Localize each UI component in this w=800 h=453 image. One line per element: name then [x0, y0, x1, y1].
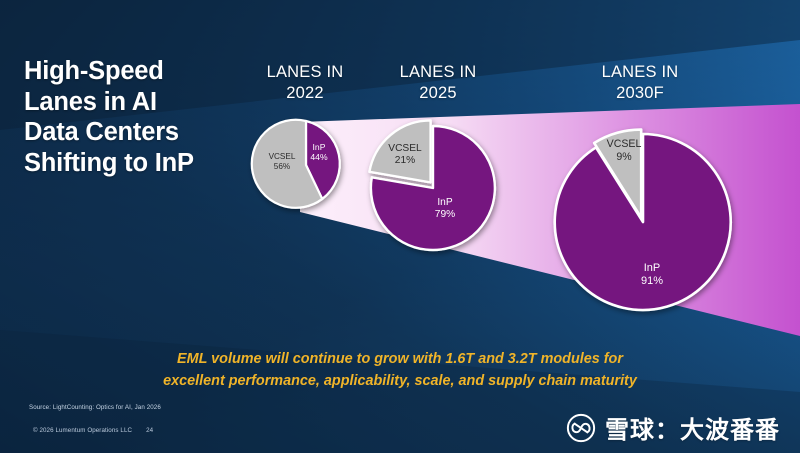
- page-title-line-3: Data Centers: [24, 117, 254, 148]
- takeaway-caption-line-2: excellent performance, applicability, sc…: [60, 371, 740, 393]
- slice-label-vcsel-2030f-name: VCSEL: [594, 138, 654, 151]
- page-title-line-4: Shifting to InP: [24, 148, 254, 179]
- watermark: 雪球：大波番番: [566, 410, 780, 445]
- pie-header-2022-line1: LANES IN: [235, 62, 375, 83]
- copyright-text: © 2026 Lumentum Operations LLC: [33, 427, 132, 434]
- slice-label-inp-2030f: InP 91%: [628, 262, 676, 288]
- watermark-text: 雪球：大波番番: [605, 410, 780, 445]
- slice-label-inp-2025-value: 79%: [423, 209, 467, 221]
- takeaway-caption-line-1: EML volume will continue to grow with 1.…: [60, 349, 740, 371]
- snowball-logo-icon: [566, 413, 596, 443]
- page-title-line-1: High-Speed: [24, 56, 254, 87]
- page-title-line-2: Lanes in AI: [24, 87, 254, 118]
- slice-label-inp-2022-name: InP: [300, 142, 338, 152]
- slice-label-vcsel-2025-name: VCSEL: [375, 143, 435, 155]
- pie-header-2030f-line2: 2030F: [570, 83, 710, 104]
- slice-label-inp-2025: InP 79%: [423, 197, 467, 221]
- pie-header-2025-line2: 2025: [368, 83, 508, 104]
- source-note: Source: LightCounting: Optics for AI, Ja…: [29, 404, 161, 411]
- slice-label-vcsel-2025: VCSEL 21%: [375, 143, 435, 167]
- slice-label-inp-2030f-value: 91%: [628, 275, 676, 288]
- takeaway-caption: EML volume will continue to grow with 1.…: [60, 349, 740, 392]
- slice-label-inp-2022-value: 44%: [300, 152, 338, 162]
- slice-label-vcsel-2030f: VCSEL 9%: [594, 138, 654, 163]
- pie-header-2022-line2: 2022: [235, 83, 375, 104]
- page-title: High-Speed Lanes in AI Data Centers Shif…: [24, 56, 254, 178]
- slice-label-vcsel-2022-value: 56%: [256, 162, 308, 172]
- copyright-notice: © 2026 Lumentum Operations LLC24: [33, 427, 153, 434]
- pie-header-2030f: LANES IN 2030F: [570, 62, 710, 104]
- slide-canvas: High-Speed Lanes in AI Data Centers Shif…: [0, 0, 800, 453]
- pie-header-2025: LANES IN 2025: [368, 62, 508, 104]
- pie-header-2030f-line1: LANES IN: [570, 62, 710, 83]
- slice-label-inp-2022: InP 44%: [300, 142, 338, 162]
- slice-label-vcsel-2025-value: 21%: [375, 155, 435, 167]
- slice-label-inp-2025-name: InP: [423, 197, 467, 209]
- slice-label-inp-2030f-name: InP: [628, 262, 676, 275]
- slide-page-number: 24: [146, 427, 153, 434]
- slice-label-vcsel-2030f-value: 9%: [594, 151, 654, 164]
- pie-header-2022: LANES IN 2022: [235, 62, 375, 104]
- pie-header-2025-line1: LANES IN: [368, 62, 508, 83]
